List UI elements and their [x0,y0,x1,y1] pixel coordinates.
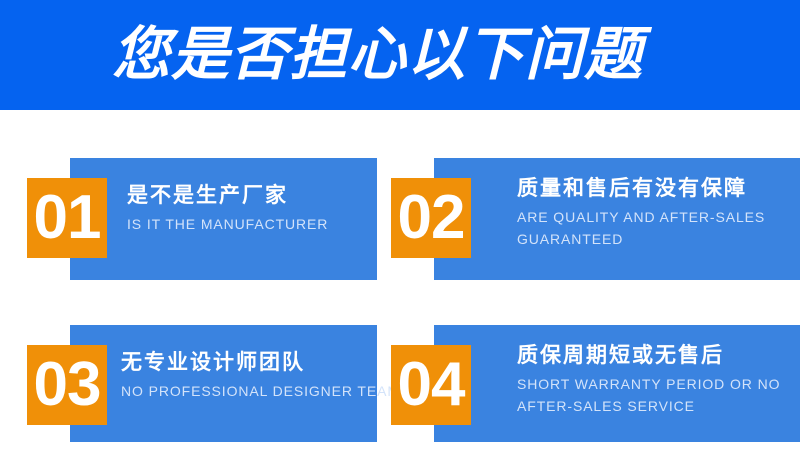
card-title: 质保周期短或无售后 [517,342,780,370]
header-banner: 您是否担心以下问题 [0,0,800,110]
card-text-block: 质量和售后有没有保障 ARE QUALITY AND AFTER-SALES G… [517,175,765,250]
concern-card-04: 04 质保周期短或无售后 SHORT WARRANTY PERIOD OR NO… [410,277,800,452]
card-title: 是不是生产厂家 [127,182,328,210]
card-number-badge: 02 [391,178,471,258]
card-subtitle: IS IT THE MANUFACTURER [127,213,328,235]
card-subtitle-line: SHORT WARRANTY PERIOD OR NO [517,373,780,395]
card-text-block: 无专业设计师团队 NO PROFESSIONAL DESIGNER TEAM [121,349,400,402]
card-text-block: 质保周期短或无售后 SHORT WARRANTY PERIOD OR NO AF… [517,342,780,417]
concern-card-01: 01 是不是生产厂家 IS IT THE MANUFACTURER [0,110,400,285]
card-title: 无专业设计师团队 [121,349,400,377]
card-subtitle: ARE QUALITY AND AFTER-SALES GUARANTEED [517,206,765,250]
card-subtitle: NO PROFESSIONAL DESIGNER TEAM [121,380,400,402]
card-title: 质量和售后有没有保障 [517,175,765,203]
card-number-badge: 03 [27,345,107,425]
concern-card-02: 02 质量和售后有没有保障 ARE QUALITY AND AFTER-SALE… [410,110,800,285]
concern-card-03: 03 无专业设计师团队 NO PROFESSIONAL DESIGNER TEA… [0,277,400,452]
page-title: 您是否担心以下问题 [112,16,643,94]
card-subtitle-line: NO PROFESSIONAL DESIGNER TEAM [121,380,400,402]
card-number-badge: 01 [27,178,107,258]
card-subtitle-line: IS IT THE MANUFACTURER [127,213,328,235]
card-subtitle: SHORT WARRANTY PERIOD OR NO AFTER-SALES … [517,373,780,417]
card-number-badge: 04 [391,345,471,425]
card-text-block: 是不是生产厂家 IS IT THE MANUFACTURER [127,182,328,235]
card-subtitle-line: AFTER-SALES SERVICE [517,395,780,417]
card-subtitle-line: GUARANTEED [517,228,765,250]
card-subtitle-line: ARE QUALITY AND AFTER-SALES [517,206,765,228]
concerns-card-grid: 01 是不是生产厂家 IS IT THE MANUFACTURER 02 质量和… [0,110,800,447]
